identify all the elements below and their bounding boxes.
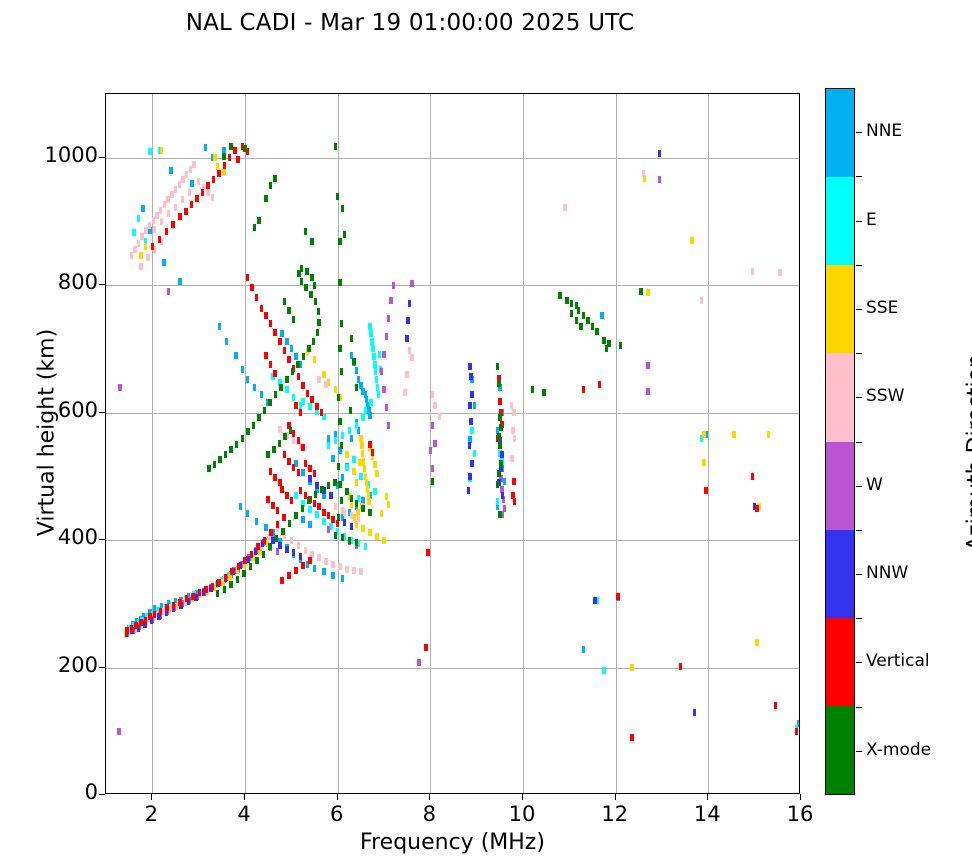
data-point xyxy=(276,548,280,555)
data-point xyxy=(213,461,217,468)
data-point xyxy=(260,305,264,312)
data-point xyxy=(294,402,298,409)
data-point xyxy=(249,563,253,570)
data-point xyxy=(299,553,303,560)
data-point xyxy=(375,533,379,540)
data-point xyxy=(217,170,221,177)
data-point xyxy=(497,470,501,477)
data-point xyxy=(586,317,590,324)
data-point xyxy=(512,409,516,416)
colorbar-band-sse[interactable] xyxy=(826,265,854,353)
data-point xyxy=(368,441,372,448)
x-tick-mark xyxy=(151,794,152,800)
data-point xyxy=(338,418,342,425)
data-point xyxy=(575,317,579,324)
data-point xyxy=(774,702,778,709)
data-point xyxy=(375,376,379,383)
y-tick-label: 800 xyxy=(0,270,98,294)
data-point xyxy=(755,505,759,512)
data-point xyxy=(233,147,237,154)
data-point xyxy=(313,470,317,477)
data-point xyxy=(336,520,340,527)
data-point xyxy=(255,518,259,525)
data-point xyxy=(308,403,312,410)
colorbar-tick-mark xyxy=(856,221,862,222)
data-point xyxy=(292,316,296,323)
data-point xyxy=(582,386,586,393)
data-point xyxy=(658,176,662,183)
data-point xyxy=(355,367,359,374)
data-point xyxy=(229,446,233,453)
data-point xyxy=(382,386,386,393)
data-point xyxy=(582,646,586,653)
data-point xyxy=(315,482,319,489)
colorbar-band-x-mode[interactable] xyxy=(826,706,854,794)
data-point xyxy=(300,265,304,272)
data-point xyxy=(360,442,364,449)
data-point xyxy=(308,465,312,472)
data-point xyxy=(496,498,500,505)
data-point xyxy=(341,432,345,439)
colorbar-separator-tick xyxy=(856,353,862,354)
data-point xyxy=(144,243,148,250)
data-point xyxy=(162,259,166,266)
data-point xyxy=(431,478,435,485)
y-tick-label: 200 xyxy=(0,653,98,677)
x-axis-label: Frequency (MHz) xyxy=(105,830,800,855)
data-point xyxy=(287,572,291,579)
data-point xyxy=(630,664,634,671)
data-point xyxy=(367,498,371,505)
data-point xyxy=(510,455,514,462)
colorbar-label-nne: NNE xyxy=(866,121,902,141)
data-point xyxy=(313,500,317,507)
data-point xyxy=(619,342,623,349)
data-point xyxy=(223,162,227,169)
data-point xyxy=(190,201,194,208)
data-point xyxy=(314,298,318,305)
data-point xyxy=(417,659,421,666)
data-point xyxy=(408,300,412,307)
data-point xyxy=(279,384,283,391)
data-point xyxy=(433,440,437,447)
colorbar-band-nne[interactable] xyxy=(826,89,854,177)
data-point xyxy=(468,442,472,449)
data-point xyxy=(290,497,294,504)
data-point xyxy=(385,333,389,340)
colorbar[interactable] xyxy=(825,88,855,795)
data-point xyxy=(217,579,221,586)
data-point xyxy=(359,473,363,480)
data-point xyxy=(297,542,301,549)
data-point xyxy=(642,170,646,177)
data-point xyxy=(169,167,173,174)
data-point xyxy=(364,543,368,550)
data-point xyxy=(280,577,284,584)
data-point xyxy=(327,526,331,533)
data-point xyxy=(296,361,300,368)
data-point xyxy=(204,586,208,593)
data-point xyxy=(139,252,143,259)
data-point xyxy=(160,147,164,154)
data-point xyxy=(158,236,162,243)
data-point xyxy=(375,470,379,477)
data-point xyxy=(795,728,799,735)
data-point xyxy=(218,323,222,330)
data-point xyxy=(191,593,195,600)
data-point xyxy=(289,427,293,434)
x-tick-mark xyxy=(800,794,801,800)
data-point xyxy=(283,298,287,305)
data-point xyxy=(767,431,771,438)
data-point xyxy=(273,474,277,481)
colorbar-band-ssw[interactable] xyxy=(826,353,854,441)
data-point xyxy=(602,337,606,344)
data-point xyxy=(294,492,298,499)
data-point xyxy=(405,335,409,342)
data-point xyxy=(341,575,345,582)
data-point xyxy=(236,156,240,163)
data-point xyxy=(315,403,319,410)
colorbar-separator-tick xyxy=(856,618,862,619)
data-point xyxy=(333,479,337,486)
colorbar-label-ssw: SSW xyxy=(866,386,904,406)
data-point xyxy=(144,617,148,624)
data-point xyxy=(315,511,319,518)
data-point xyxy=(299,487,303,494)
data-points-layer xyxy=(106,94,799,793)
data-point xyxy=(334,437,338,444)
data-point xyxy=(224,574,228,581)
data-point xyxy=(338,481,342,488)
data-point xyxy=(207,465,211,472)
data-point xyxy=(497,380,501,387)
data-point xyxy=(243,145,247,152)
data-point xyxy=(181,196,185,203)
x-tick-label: 12 xyxy=(585,802,645,826)
data-point xyxy=(565,297,569,304)
data-point xyxy=(693,709,697,716)
data-point xyxy=(246,274,250,281)
data-point xyxy=(352,468,356,475)
data-point xyxy=(327,482,331,489)
data-point xyxy=(310,396,314,403)
colorbar-band-e[interactable] xyxy=(826,177,854,265)
data-point xyxy=(290,537,294,544)
data-point xyxy=(605,345,609,352)
data-point xyxy=(406,317,410,324)
data-point xyxy=(274,391,278,398)
x-tick-mark xyxy=(615,794,616,800)
data-point xyxy=(285,492,289,499)
data-point xyxy=(269,361,273,368)
data-point xyxy=(473,402,477,409)
data-point xyxy=(246,376,250,383)
y-tick-mark xyxy=(99,157,105,158)
data-point xyxy=(424,644,428,651)
colorbar-separator-tick xyxy=(856,442,862,443)
data-point xyxy=(512,478,516,485)
y-tick-mark xyxy=(99,667,105,668)
data-point xyxy=(285,546,289,553)
data-point xyxy=(243,557,247,564)
colorbar-separator-tick xyxy=(856,176,862,177)
data-point xyxy=(348,427,352,434)
data-point xyxy=(352,567,356,574)
data-point xyxy=(198,589,202,596)
data-point xyxy=(369,330,373,337)
data-point xyxy=(380,510,384,517)
colorbar-tick-mark xyxy=(856,132,862,133)
colorbar-label-x-mode: X-mode xyxy=(866,740,931,760)
data-point xyxy=(313,565,317,572)
data-point xyxy=(278,479,282,486)
data-point xyxy=(431,465,435,472)
data-point xyxy=(305,268,309,275)
data-point xyxy=(250,284,254,291)
data-point xyxy=(337,514,341,521)
data-point xyxy=(361,505,365,512)
data-point xyxy=(341,507,345,514)
data-point xyxy=(338,345,342,352)
data-point xyxy=(364,407,368,414)
data-point xyxy=(320,486,324,493)
data-point xyxy=(361,414,365,421)
data-point xyxy=(118,384,122,391)
data-point xyxy=(287,458,291,465)
data-point xyxy=(308,475,312,482)
data-point xyxy=(431,391,435,398)
data-point xyxy=(216,590,220,597)
data-point xyxy=(470,391,474,398)
data-point xyxy=(178,213,182,220)
data-point xyxy=(338,279,342,286)
data-point xyxy=(510,402,514,409)
data-point xyxy=(130,625,134,632)
data-point xyxy=(426,549,430,556)
x-tick-label: 4 xyxy=(214,802,274,826)
data-point xyxy=(499,424,503,431)
data-point xyxy=(355,521,359,528)
data-point xyxy=(255,294,259,301)
data-point xyxy=(503,478,507,485)
data-point xyxy=(563,204,567,211)
data-point xyxy=(341,534,345,541)
data-point xyxy=(271,502,275,509)
data-point xyxy=(359,435,363,442)
data-point xyxy=(690,237,694,244)
data-point xyxy=(467,487,471,494)
x-tick-label: 2 xyxy=(121,802,181,826)
data-point xyxy=(171,221,175,228)
data-point xyxy=(350,512,354,519)
colorbar-tick-mark xyxy=(856,397,862,398)
colorbar-tick-mark xyxy=(856,574,862,575)
data-point xyxy=(371,449,375,456)
data-point xyxy=(345,464,349,471)
colorbar-band-vertical[interactable] xyxy=(826,618,854,706)
data-point xyxy=(304,547,308,554)
data-point xyxy=(352,456,356,463)
data-point xyxy=(294,353,298,360)
colorbar-band-w[interactable] xyxy=(826,442,854,530)
data-point xyxy=(341,205,345,212)
data-point xyxy=(272,446,276,453)
data-point xyxy=(331,561,335,568)
data-point xyxy=(496,363,500,370)
data-point xyxy=(250,551,254,558)
data-point xyxy=(167,210,171,217)
data-point xyxy=(334,532,338,539)
data-point xyxy=(570,300,574,307)
data-point xyxy=(282,514,286,521)
data-point xyxy=(343,231,347,238)
data-point xyxy=(241,366,245,373)
data-point xyxy=(498,511,502,518)
data-point xyxy=(310,274,314,281)
data-point xyxy=(368,529,372,536)
data-point xyxy=(468,363,472,370)
y-tick-mark xyxy=(99,794,105,795)
colorbar-separator-tick xyxy=(856,265,862,266)
data-point xyxy=(431,422,435,429)
data-point xyxy=(252,422,256,429)
data-point xyxy=(542,389,546,396)
data-point xyxy=(340,442,344,449)
data-point xyxy=(148,613,152,620)
data-point xyxy=(256,543,260,550)
data-point xyxy=(134,622,138,629)
data-point xyxy=(269,468,273,475)
data-point xyxy=(349,407,353,414)
data-point xyxy=(373,461,377,468)
data-point xyxy=(334,143,338,150)
data-point xyxy=(513,498,517,505)
data-point xyxy=(178,278,182,285)
data-point xyxy=(558,292,562,299)
data-point xyxy=(237,563,241,570)
ionogram-figure: NAL CADI - Mar 19 01:00:00 2025 UTC 2468… xyxy=(0,0,972,865)
data-point xyxy=(266,451,270,458)
data-point xyxy=(374,368,378,375)
data-point xyxy=(137,240,141,247)
data-point xyxy=(255,557,259,564)
data-point xyxy=(361,525,365,532)
data-point xyxy=(283,433,287,440)
data-point xyxy=(185,595,189,602)
data-point xyxy=(327,512,331,519)
data-point xyxy=(308,557,312,564)
colorbar-title: Azimuth Direction xyxy=(964,313,972,593)
data-point xyxy=(358,459,362,466)
data-point xyxy=(204,144,208,151)
data-point xyxy=(389,297,393,304)
y-tick-mark xyxy=(99,284,105,285)
data-point xyxy=(382,537,386,544)
data-point xyxy=(262,551,266,558)
data-point xyxy=(159,608,163,615)
colorbar-label-w: W xyxy=(866,475,883,495)
data-point xyxy=(278,338,282,345)
data-point xyxy=(211,583,215,590)
x-tick-label: 10 xyxy=(492,802,552,826)
data-point xyxy=(352,358,356,365)
data-point xyxy=(498,442,502,449)
data-point xyxy=(153,611,157,618)
data-point xyxy=(246,510,250,517)
data-point xyxy=(501,492,505,499)
data-point xyxy=(224,451,228,458)
data-point xyxy=(225,338,229,345)
data-point xyxy=(387,501,391,508)
data-point xyxy=(309,291,313,298)
data-point xyxy=(234,352,238,359)
data-point xyxy=(301,516,305,523)
data-point xyxy=(278,426,282,433)
data-point xyxy=(322,371,326,378)
x-tick-label: 16 xyxy=(770,802,830,826)
data-point xyxy=(350,501,354,508)
data-point xyxy=(317,376,321,383)
data-point xyxy=(312,338,316,345)
data-point xyxy=(223,586,227,593)
data-point xyxy=(165,228,169,235)
data-point xyxy=(602,667,606,674)
data-point xyxy=(595,328,599,335)
data-point xyxy=(355,384,359,391)
data-point xyxy=(469,373,473,380)
data-point xyxy=(382,351,386,358)
data-point xyxy=(646,388,650,395)
data-point xyxy=(294,567,298,574)
data-point xyxy=(130,252,134,259)
data-point xyxy=(268,543,272,550)
data-point xyxy=(329,492,333,499)
x-tick-label: 14 xyxy=(677,802,737,826)
data-point xyxy=(292,394,296,401)
data-point xyxy=(301,382,305,389)
data-point xyxy=(297,437,301,444)
data-point xyxy=(239,503,243,510)
data-point xyxy=(438,413,442,420)
data-point xyxy=(313,356,317,363)
data-point xyxy=(304,228,308,235)
data-point xyxy=(308,506,312,513)
data-point xyxy=(350,335,354,342)
data-point xyxy=(280,486,284,493)
data-point xyxy=(334,503,338,510)
colorbar-label-vertical: Vertical xyxy=(866,651,930,671)
x-tick-mark xyxy=(244,794,245,800)
data-point xyxy=(213,154,217,161)
data-point xyxy=(322,518,326,525)
data-point xyxy=(280,330,284,337)
data-point xyxy=(137,215,141,222)
data-point xyxy=(324,558,328,565)
data-point xyxy=(302,353,306,360)
data-point xyxy=(266,496,270,503)
data-point xyxy=(317,503,321,510)
data-point xyxy=(281,528,285,535)
colorbar-band-nnw[interactable] xyxy=(826,530,854,618)
colorbar-label-sse: SSE xyxy=(866,298,898,318)
data-point xyxy=(337,394,341,401)
data-point xyxy=(253,224,257,231)
data-point xyxy=(340,497,344,504)
data-point xyxy=(320,409,324,416)
data-point xyxy=(206,189,210,196)
plot-area[interactable] xyxy=(105,93,800,794)
